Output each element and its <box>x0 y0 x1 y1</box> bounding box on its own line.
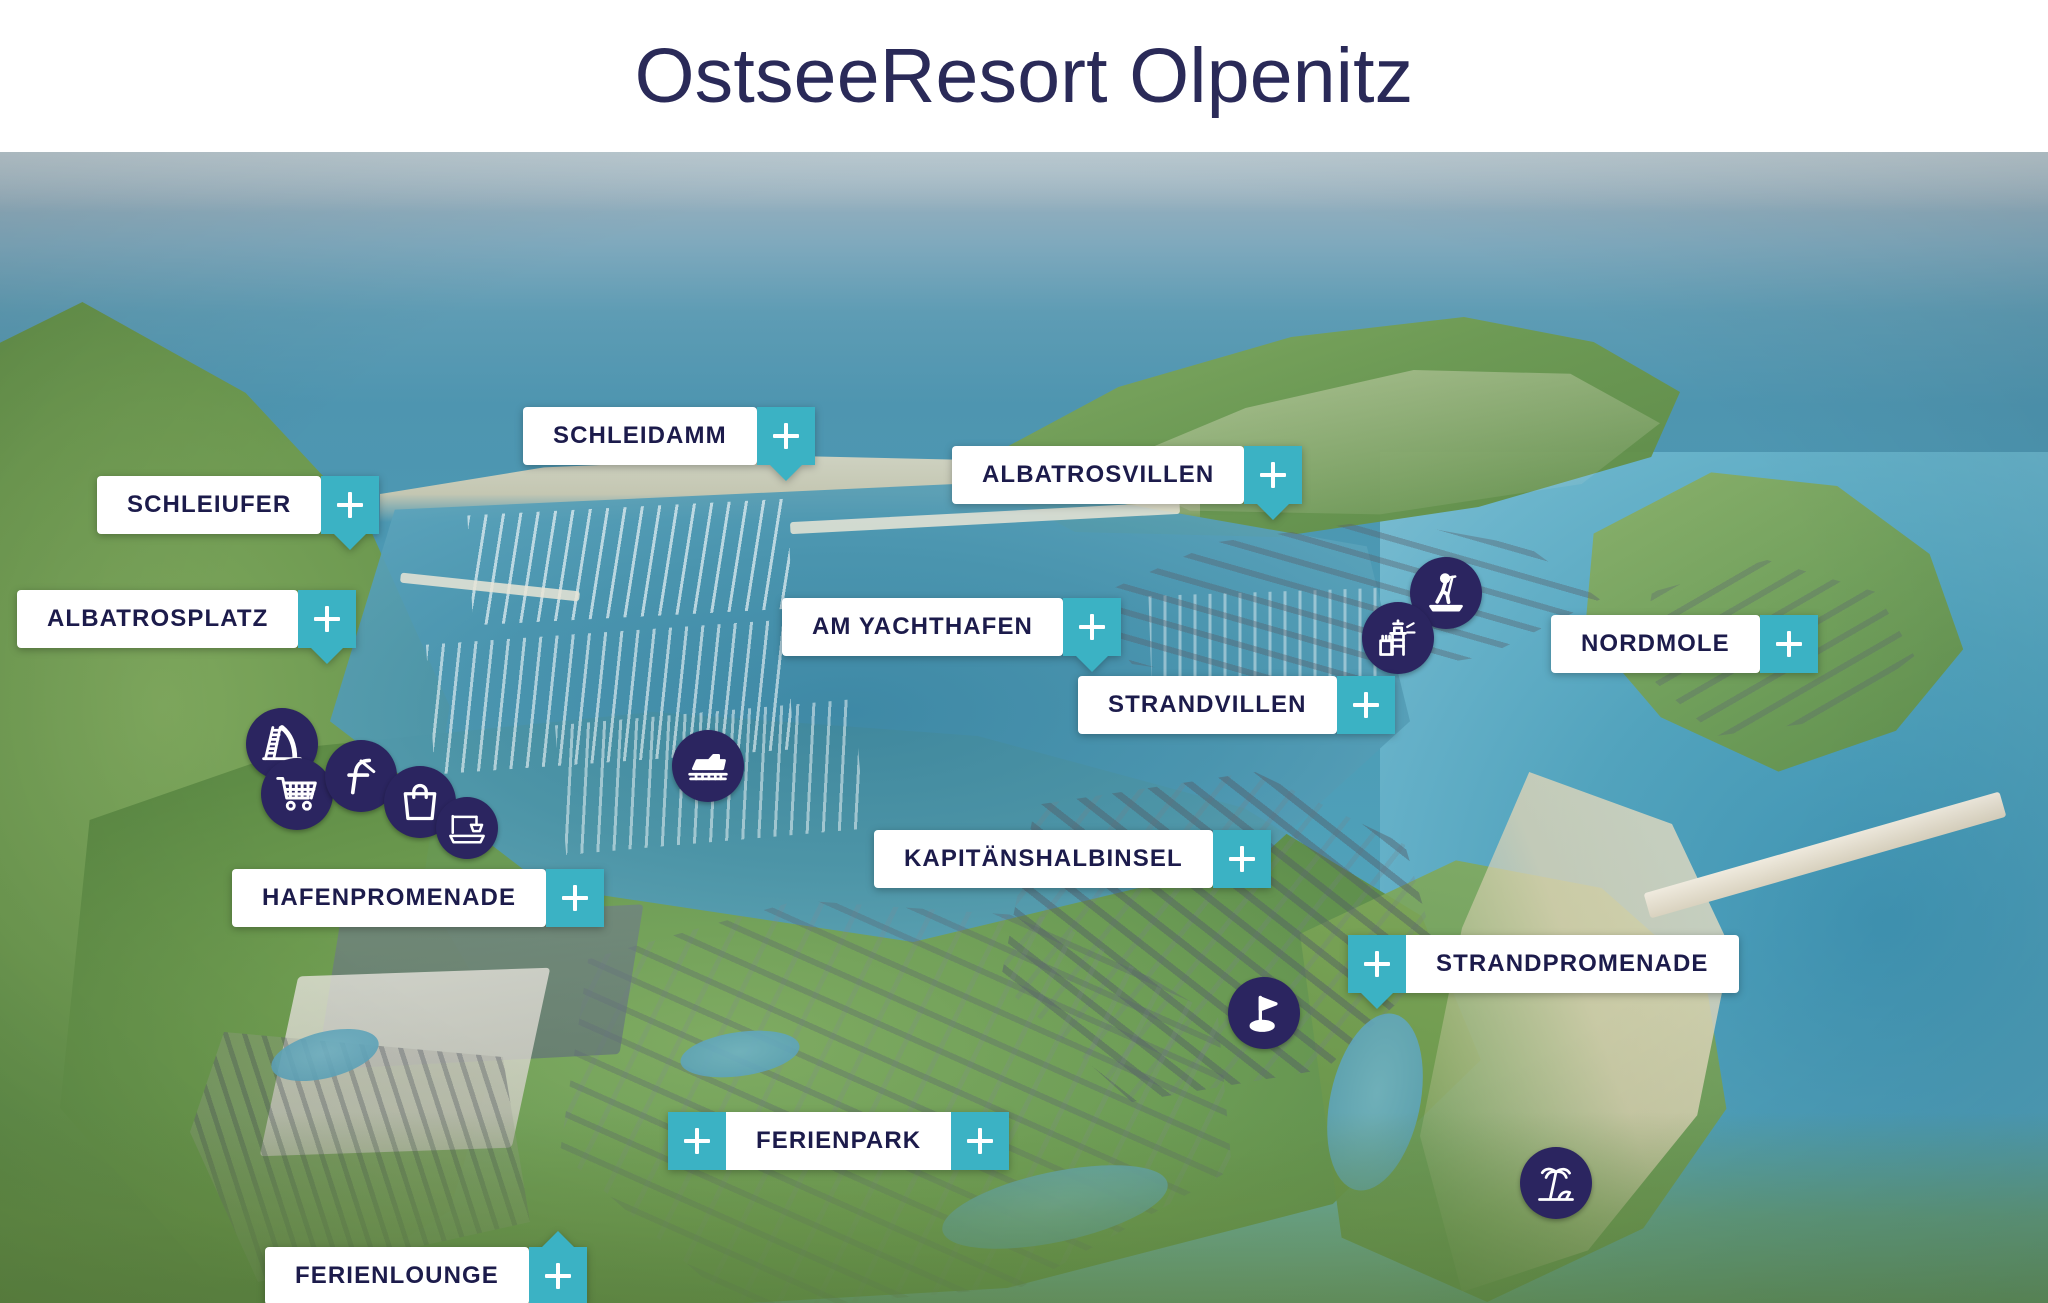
lighthouse-icon[interactable] <box>1362 602 1434 674</box>
pointer-tail-albatrosplatz <box>311 648 343 664</box>
hotspot-label-ferienlounge: FERIENLOUNGE <box>265 1247 529 1303</box>
plus-icon-schleidamm-right[interactable] <box>757 407 815 465</box>
map-hotspot-strandpromenade[interactable]: STRANDPROMENADE <box>1348 935 1739 993</box>
shopping-cart-icon[interactable] <box>261 758 333 830</box>
page-title: OstseeResort Olpenitz <box>635 38 1414 115</box>
plus-icon-albatrosplatz-right[interactable] <box>298 590 356 648</box>
map-hotspot-ferienlounge[interactable]: FERIENLOUNGE <box>265 1247 587 1303</box>
map-hotspot-nordmole[interactable]: NORDMOLE <box>1551 615 1818 673</box>
page-header: OstseeResort Olpenitz <box>0 0 2048 152</box>
hotspot-label-schleidamm: SCHLEIDAMM <box>523 407 757 465</box>
boat-crane-icon[interactable] <box>436 797 498 859</box>
plus-icon-albatrosvillen-right[interactable] <box>1244 446 1302 504</box>
plus-icon-schleiufer-right[interactable] <box>321 476 379 534</box>
marina-pontoons-north <box>467 499 792 626</box>
plus-icon-nordmole-right[interactable] <box>1760 615 1818 673</box>
plus-icon-kapitaenshalbinsel-right[interactable] <box>1213 830 1271 888</box>
resort-map-page: OstseeResort Olpenitz <box>0 0 2048 1303</box>
pointer-tail-am-yachthafen <box>1076 656 1108 672</box>
hotspot-label-schleiufer: SCHLEIUFER <box>97 476 321 534</box>
map-hotspot-schleiufer[interactable]: SCHLEIUFER <box>97 476 379 534</box>
palm-beach-icon[interactable] <box>1520 1147 1592 1219</box>
pointer-tail-ferienlounge <box>542 1231 574 1247</box>
pointer-tail-albatrosvillen <box>1257 504 1289 520</box>
map-hotspot-strandvillen[interactable]: STRANDVILLEN <box>1078 676 1395 734</box>
hotspot-label-nordmole: NORDMOLE <box>1551 615 1760 673</box>
map-hotspot-ferienpark[interactable]: FERIENPARK <box>668 1112 1009 1170</box>
hotspot-label-kapitaenshalbinsel: KAPITÄNSHALBINSEL <box>874 830 1213 888</box>
interactive-resort-map[interactable]: SCHLEIDAMMALBATROSVILLENSCHLEIUFERALBATR… <box>0 152 2048 1303</box>
map-hotspot-hafenpromenade[interactable]: HAFENPROMENADE <box>232 869 604 927</box>
horizon-haze <box>0 152 2048 212</box>
hotspot-label-ferienpark: FERIENPARK <box>726 1112 951 1170</box>
motorboat-icon[interactable] <box>672 730 744 802</box>
pointer-tail-schleiufer <box>334 534 366 550</box>
map-hotspot-kapitaenshalbinsel[interactable]: KAPITÄNSHALBINSEL <box>874 830 1271 888</box>
pointer-tail-schleidamm <box>770 465 802 481</box>
golf-flag-icon[interactable] <box>1228 977 1300 1049</box>
plus-icon-ferienpark-right[interactable] <box>951 1112 1009 1170</box>
map-hotspot-albatrosvillen[interactable]: ALBATROSVILLEN <box>952 446 1302 504</box>
map-hotspot-schleidamm[interactable]: SCHLEIDAMM <box>523 407 815 465</box>
plus-icon-ferienpark-left[interactable] <box>668 1112 726 1170</box>
hotspot-label-albatrosplatz: ALBATROSPLATZ <box>17 590 298 648</box>
pointer-tail-strandpromenade <box>1361 993 1393 1009</box>
hotspot-label-strandvillen: STRANDVILLEN <box>1078 676 1337 734</box>
map-hotspot-albatrosplatz[interactable]: ALBATROSPLATZ <box>17 590 356 648</box>
map-hotspot-am-yachthafen[interactable]: AM YACHTHAFEN <box>782 598 1121 656</box>
hotspot-label-am-yachthafen: AM YACHTHAFEN <box>782 598 1063 656</box>
hotspot-label-strandpromenade: STRANDPROMENADE <box>1406 935 1739 993</box>
plus-icon-am-yachthafen-right[interactable] <box>1063 598 1121 656</box>
plus-icon-ferienlounge-right[interactable] <box>529 1247 587 1303</box>
hotspot-label-hafenpromenade: HAFENPROMENADE <box>232 869 546 927</box>
plus-icon-hafenpromenade-right[interactable] <box>546 869 604 927</box>
hotspot-label-albatrosvillen: ALBATROSVILLEN <box>952 446 1244 504</box>
plus-icon-strandvillen-right[interactable] <box>1337 676 1395 734</box>
plus-icon-strandpromenade-left[interactable] <box>1348 935 1406 993</box>
